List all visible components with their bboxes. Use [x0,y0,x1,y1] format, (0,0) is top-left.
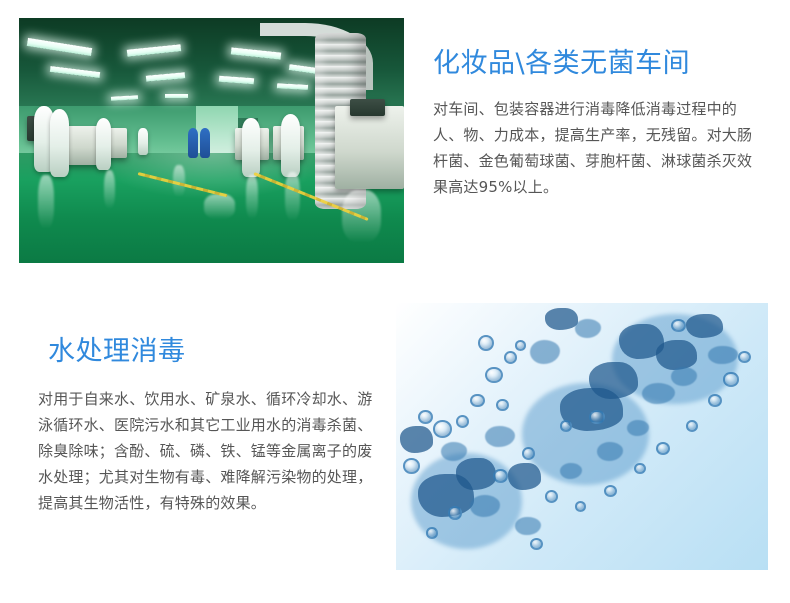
water-bubble [708,394,722,407]
floor-reflection [246,175,258,219]
water-bubble [545,490,559,503]
water-bubble [738,351,751,363]
water-bubble [530,538,543,550]
section-cleanroom-text: 化妆品\各类无菌车间 对车间、包装容器进行消毒降低消毒过程中的人、物、力成本，提… [433,48,763,200]
worker [200,128,210,157]
water-photo [396,303,768,570]
water-bubble [589,410,604,424]
water-bubble [515,340,526,350]
floor-reflection [38,175,53,229]
worker [138,128,147,155]
water-bubble [496,399,508,411]
product-detail-page: 化妆品\各类无菌车间 对车间、包装容器进行消毒降低消毒过程中的人、物、力成本，提… [0,0,790,603]
section-water-text: 水处理消毒 对用于自来水、饮用水、矿泉水、循环冷却水、游泳循环水、医院污水和其它… [38,336,373,516]
section-cleanroom-body: 对车间、包装容器进行消毒降低消毒过程中的人、物、力成本，提高生产率，无残留。对大… [433,96,763,200]
water-blob [575,319,601,338]
water-mass [508,463,541,490]
water-mass [545,308,578,329]
water-bubble [448,506,462,520]
water-blob [485,426,515,447]
section-water-title: 水处理消毒 [48,336,373,368]
worker [242,118,259,177]
water-bubble [604,485,617,497]
water-bubble [560,420,572,431]
water-blob [530,340,560,364]
water-blob [597,442,623,461]
cleanroom-photo [19,18,404,263]
worker [50,109,69,178]
water-mass [686,314,723,338]
water-bubble [470,394,484,408]
production-equipment [335,106,404,189]
water-bubble [634,463,645,474]
cleanroom-scene [19,18,404,263]
water-bubble [504,351,517,364]
water-mass [589,362,637,399]
water-mass [456,458,497,490]
section-water-body: 对用于自来水、饮用水、矿泉水、循环冷却水、游泳循环水、医院污水和其它工业用水的消… [38,386,373,516]
section-water-paragraph: 对用于自来水、饮用水、矿泉水、循环冷却水、游泳循环水、医院污水和其它工业用水的消… [38,386,373,516]
ceiling-light [165,94,188,98]
water-bubble [723,372,738,386]
water-bubble [493,469,508,484]
water-bubble [418,410,433,425]
worker [188,128,198,157]
water-blob [515,517,541,536]
water-bubble [403,458,420,474]
water-bubble [426,527,438,538]
water-bubble [456,415,470,428]
floor-reflection [204,194,235,219]
water-bubble [485,367,502,383]
production-equipment [350,99,385,116]
water-bubble [478,335,494,351]
floor-reflection [285,172,300,221]
water-bubble [656,442,670,455]
water-bubble [671,319,685,332]
water-blob [441,442,467,461]
floor-reflection [104,170,116,209]
water-bubble [522,447,535,460]
water-scene [396,303,768,570]
water-bubble [686,420,698,432]
water-mass [400,426,433,453]
section-cleanroom-paragraph: 对车间、包装容器进行消毒降低消毒过程中的人、物、力成本，提高生产率，无残留。对大… [433,96,763,200]
worker [281,114,300,178]
water-bubble [575,501,586,512]
section-cleanroom-title: 化妆品\各类无菌车间 [433,48,763,80]
water-mass [656,340,697,369]
water-bubble [433,420,452,437]
worker [96,118,111,169]
